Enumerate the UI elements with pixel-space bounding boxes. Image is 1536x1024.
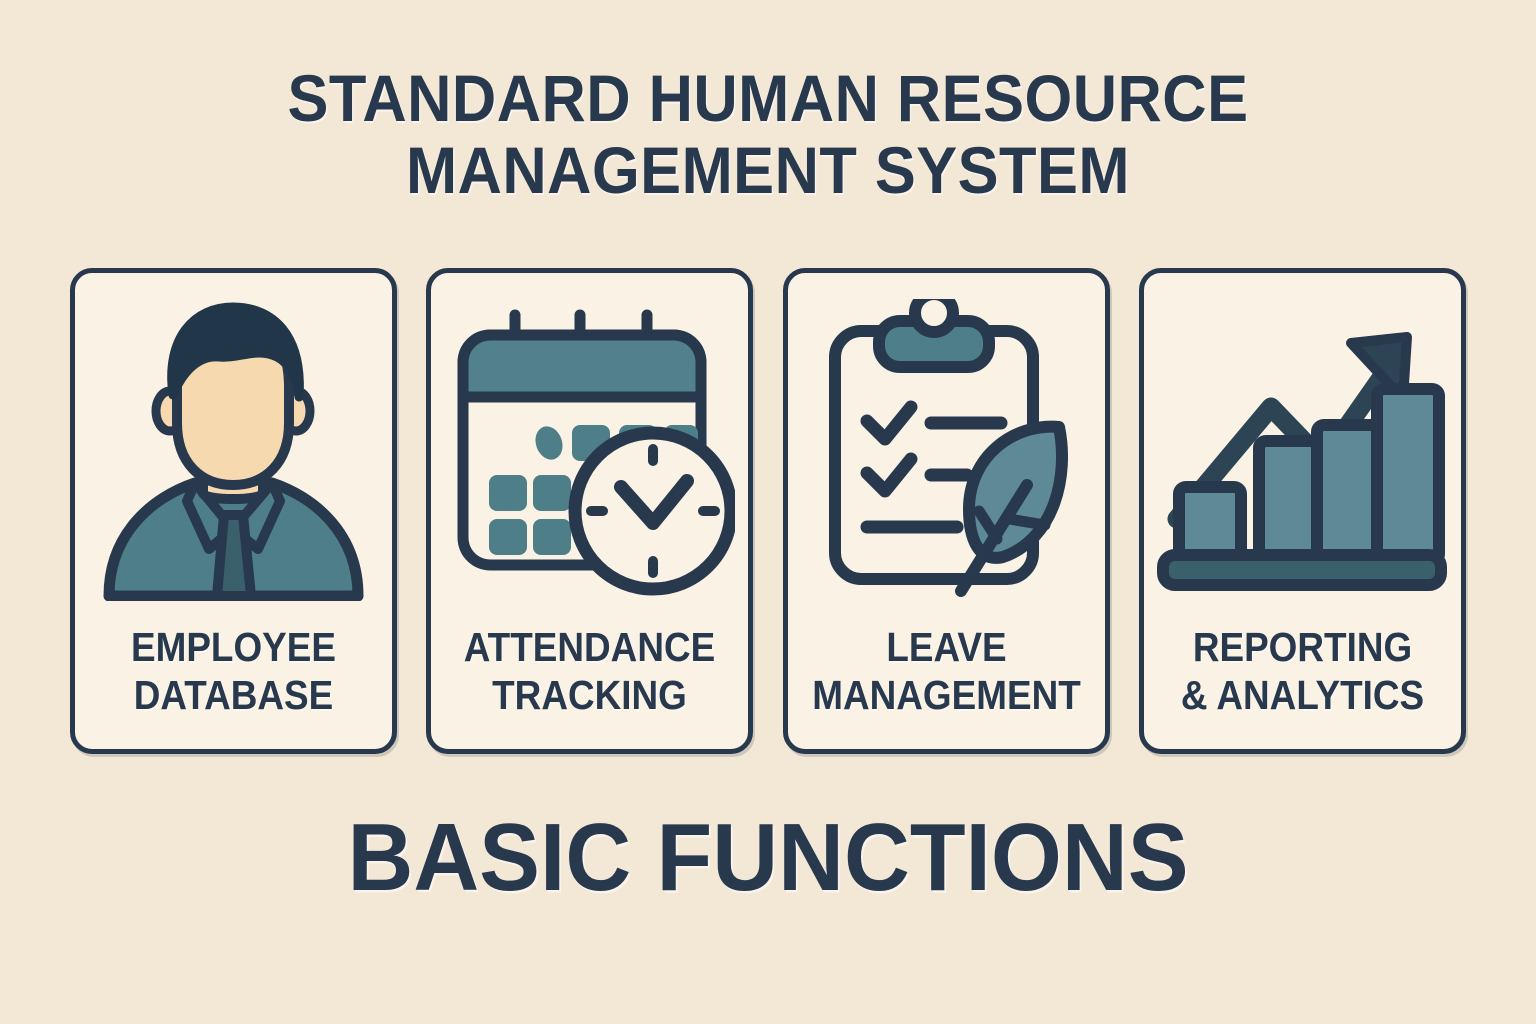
person-avatar-icon (75, 291, 392, 611)
card-label-leave-management: LEAVE MANAGEMENT (787, 623, 1105, 719)
card-label-employee-database: EMPLOYEE DATABASE (75, 623, 393, 719)
title-line-1: STANDARD HUMAN RESOURCE (54, 62, 1482, 134)
page-title: STANDARD HUMAN RESOURCE MANAGEMENT SYSTE… (0, 62, 1536, 206)
title-line-2: MANAGEMENT SYSTEM (54, 134, 1482, 206)
card-label-line-1: ATTENDANCE (431, 623, 749, 671)
card-employee-database[interactable]: EMPLOYEE DATABASE (70, 268, 397, 754)
clipboard-leaf-icon (788, 291, 1105, 611)
card-leave-management[interactable]: LEAVE MANAGEMENT (783, 268, 1110, 754)
card-label-line-1: EMPLOYEE (75, 623, 393, 671)
card-attendance-tracking[interactable]: ATTENDANCE TRACKING (426, 268, 753, 754)
card-label-line-2: MANAGEMENT (787, 671, 1105, 719)
card-label-line-2: & ANALYTICS (1144, 671, 1462, 719)
calendar-clock-icon (431, 291, 748, 611)
footer-text: BASIC FUNCTIONS (38, 806, 1497, 910)
card-label-reporting-analytics: REPORTING & ANALYTICS (1144, 623, 1462, 719)
card-label-line-1: REPORTING (1144, 623, 1462, 671)
footer-heading: BASIC FUNCTIONS (0, 806, 1536, 910)
card-label-line-1: LEAVE (787, 623, 1105, 671)
card-label-attendance-tracking: ATTENDANCE TRACKING (431, 623, 749, 719)
feature-card-row: EMPLOYEE DATABASE (70, 268, 1466, 754)
card-label-line-2: TRACKING (431, 671, 749, 719)
card-reporting-analytics[interactable]: REPORTING & ANALYTICS (1139, 268, 1466, 754)
card-label-line-2: DATABASE (75, 671, 393, 719)
bar-chart-arrow-icon (1144, 291, 1461, 611)
